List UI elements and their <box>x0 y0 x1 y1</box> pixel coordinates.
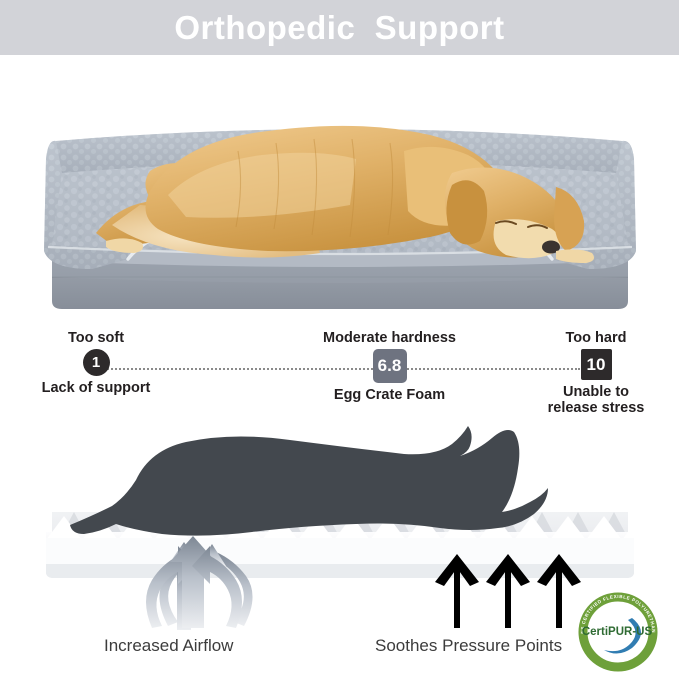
certipur-us-badge: CONTAINS CERTIFIED FLEXIBLE POLYURETHANE… <box>574 588 666 673</box>
caption-soothes-pressure-points: Soothes Pressure Points <box>375 636 562 656</box>
infographic-page: Orthopedic Support <box>0 0 679 673</box>
scale-marker-10: 10 <box>581 349 612 380</box>
caption-increased-airflow: Increased Airflow <box>104 636 233 656</box>
scale-stop-bottom-label: Lack of support <box>12 380 180 396</box>
page-title: Orthopedic Support <box>0 0 679 55</box>
scale-stop-bottom-label: Egg Crate Foam <box>302 387 477 403</box>
scale-stop-top-label: Moderate hardness <box>302 330 477 346</box>
scale-stop-top-label: Too hard <box>520 330 672 346</box>
scale-marker-6-8: 6.8 <box>373 349 407 383</box>
scale-stop-too-soft: Too soft 1 Lack of support <box>12 330 180 396</box>
hardness-scale: Too soft 1 Lack of support Moderate hard… <box>0 330 679 422</box>
scale-stop-bottom-label: Unable to release stress <box>520 384 672 416</box>
badge-name: CertiPUR-US <box>582 626 653 638</box>
scale-stop-too-hard: Too hard 10 Unable to release stress <box>520 330 672 416</box>
scale-stop-top-label: Too soft <box>12 330 180 346</box>
scale-marker-1: 1 <box>83 349 110 376</box>
scale-stop-moderate: Moderate hardness 6.8 Egg Crate Foam <box>302 330 477 403</box>
product-photo <box>0 55 679 325</box>
